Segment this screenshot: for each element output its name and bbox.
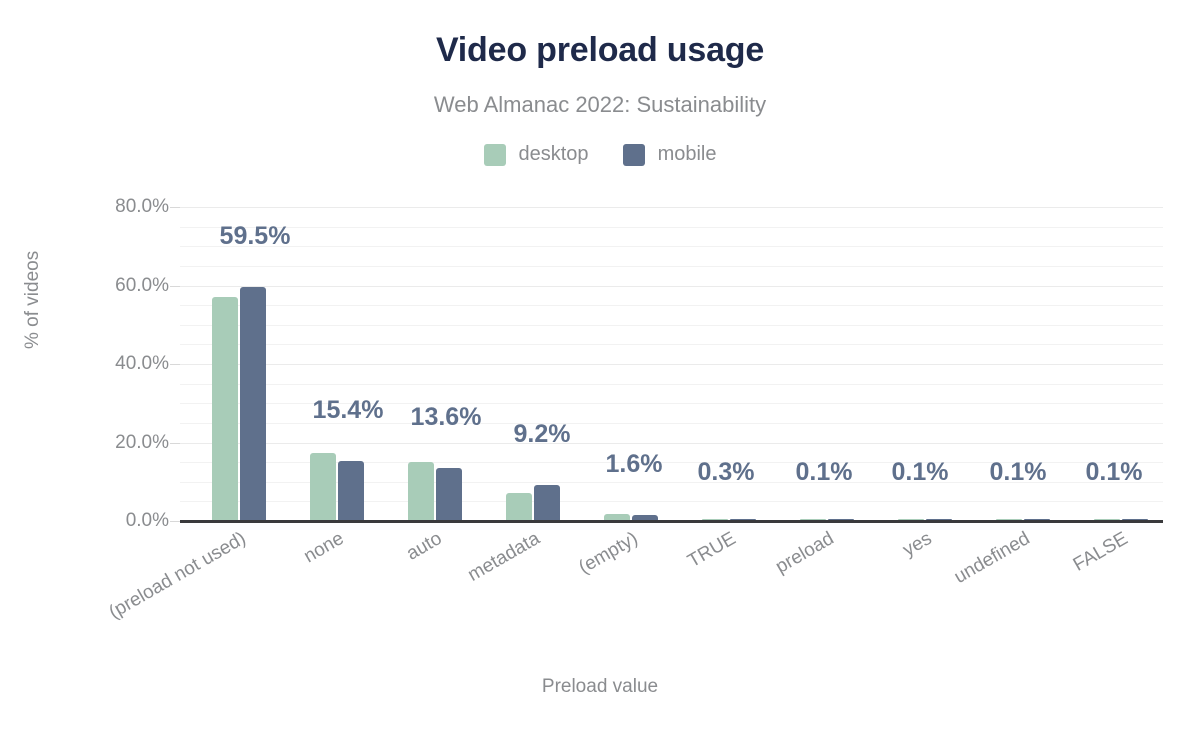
bar-value-label: 59.5% bbox=[220, 222, 291, 251]
y-axis-tick-label: 80.0% bbox=[0, 196, 169, 218]
bar-group bbox=[212, 207, 266, 521]
bar-value-label: 0.1% bbox=[990, 458, 1047, 487]
bar-value-label: 15.4% bbox=[313, 396, 384, 425]
chart-title: Video preload usage bbox=[0, 31, 1200, 70]
bar-value-label: 13.6% bbox=[411, 403, 482, 432]
chart-legend: desktopmobile bbox=[0, 143, 1200, 166]
legend-label: desktop bbox=[519, 143, 589, 166]
bar-group bbox=[408, 207, 462, 521]
bar-group bbox=[310, 207, 364, 521]
bar-value-label: 9.2% bbox=[514, 420, 571, 449]
x-axis-tick-label: TRUE bbox=[383, 528, 740, 747]
legend-swatch-icon bbox=[623, 144, 645, 166]
x-axis-tick-label: undefined bbox=[677, 528, 1034, 747]
y-axis-tick-label: 60.0% bbox=[0, 275, 169, 297]
bar-value-label: 0.1% bbox=[892, 458, 949, 487]
legend-label: mobile bbox=[658, 143, 717, 166]
y-axis-title: % of videos bbox=[22, 251, 44, 349]
bar-value-label: 0.1% bbox=[1086, 458, 1143, 487]
chart-container: Video preload usage Web Almanac 2022: Su… bbox=[0, 0, 1200, 742]
x-axis-tick-label: (empty) bbox=[285, 528, 642, 747]
x-axis-tick-label: metadata bbox=[187, 528, 544, 747]
bar-desktop[interactable] bbox=[310, 453, 336, 521]
bar-value-label: 0.1% bbox=[796, 458, 853, 487]
bar-mobile[interactable] bbox=[338, 461, 364, 521]
chart-subtitle: Web Almanac 2022: Sustainability bbox=[0, 92, 1200, 118]
legend-swatch-icon bbox=[484, 144, 506, 166]
bar-desktop[interactable] bbox=[506, 493, 532, 521]
x-axis-tick-label: FALSE bbox=[775, 528, 1132, 747]
y-axis-tick-label: 20.0% bbox=[0, 432, 169, 454]
x-axis-tick-label: preload bbox=[481, 528, 838, 747]
bar-value-label: 1.6% bbox=[606, 450, 663, 479]
y-axis-tick-label: 40.0% bbox=[0, 353, 169, 375]
x-axis-tick-label: yes bbox=[579, 528, 936, 747]
bar-mobile[interactable] bbox=[534, 485, 560, 521]
bar-desktop[interactable] bbox=[212, 297, 238, 521]
bar-mobile[interactable] bbox=[240, 287, 266, 521]
x-axis-title: Preload value bbox=[0, 676, 1200, 698]
legend-item-mobile[interactable]: mobile bbox=[623, 143, 717, 166]
bar-mobile[interactable] bbox=[436, 468, 462, 521]
x-axis-baseline bbox=[180, 520, 1163, 523]
bar-desktop[interactable] bbox=[408, 462, 434, 521]
y-axis-tick-label: 0.0% bbox=[0, 510, 169, 532]
legend-item-desktop[interactable]: desktop bbox=[484, 143, 589, 166]
x-axis-tick-label: auto bbox=[89, 528, 446, 747]
bar-value-label: 0.3% bbox=[698, 458, 755, 487]
bar-group bbox=[506, 207, 560, 521]
